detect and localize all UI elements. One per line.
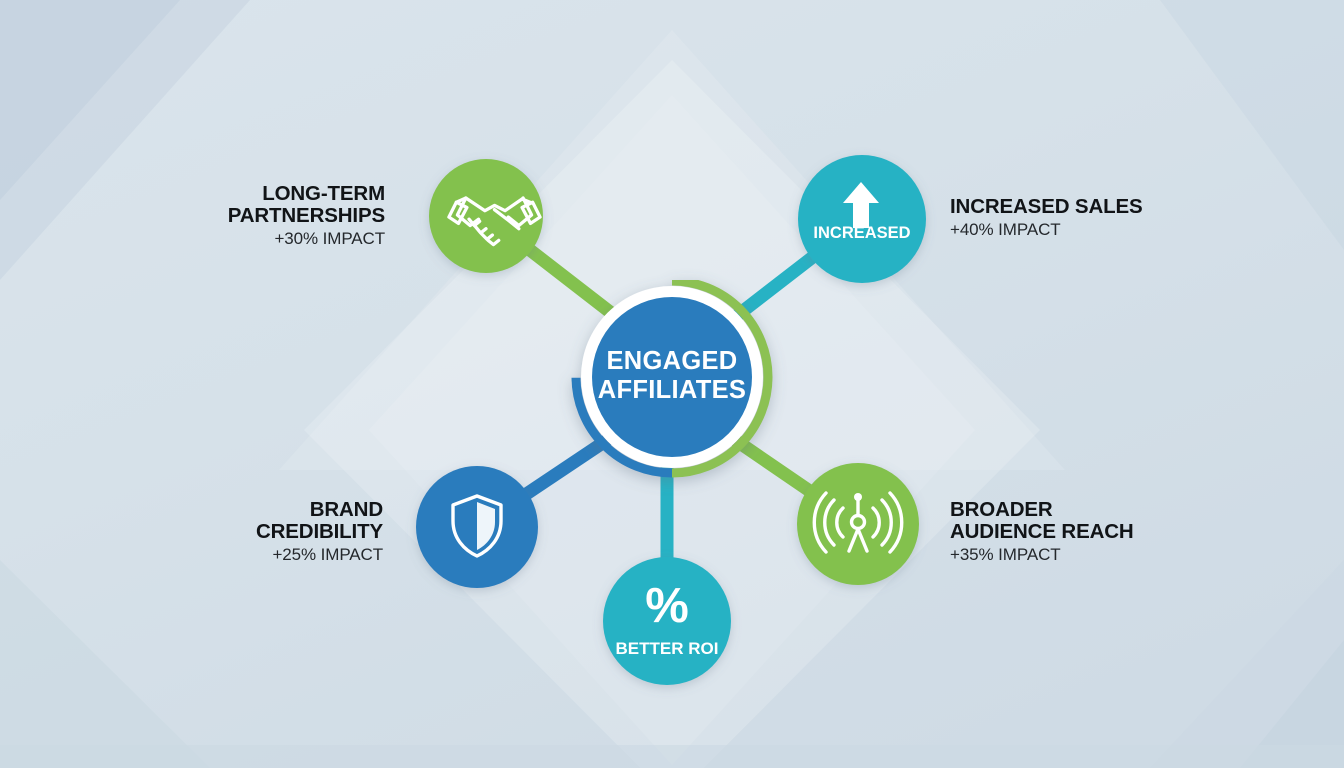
node-increased-sales[interactable]: INCREASED [798,155,926,283]
hub-label-line1: ENGAGED [606,347,737,375]
label-impact-broader-audience-reach: +35% IMPACT [950,546,1220,564]
node-better-roi[interactable]: % BETTER ROI [603,557,731,685]
label-title-increased-sales: INCREASED SALES [950,196,1200,218]
node-inner-caption-better-roi: BETTER ROI [616,639,719,658]
label-title-long-term-partnerships-line2: PARTNERSHIPS [180,205,385,227]
label-increased-sales: INCREASED SALES +40% IMPACT [950,196,1200,239]
label-impact-increased-sales: +40% IMPACT [950,221,1200,239]
node-brand-credibility[interactable] [416,466,538,588]
label-title-broader-audience-reach-line2: AUDIENCE REACH [950,521,1220,543]
infographic-canvas: ENGAGED AFFILIATES INCREASED [0,0,1344,768]
label-title-brand-credibility-line2: CREDIBILITY [178,521,383,543]
label-long-term-partnerships: LONG-TERM PARTNERSHIPS +30% IMPACT [180,183,385,248]
node-long-term-partnerships[interactable] [429,159,543,273]
label-impact-long-term-partnerships: +30% IMPACT [180,230,385,248]
label-title-broader-audience-reach-line1: BROADER [950,499,1220,521]
label-impact-brand-credibility: +25% IMPACT [178,546,383,564]
percent-icon: % [645,579,689,633]
node-inner-caption-increased-sales: INCREASED [813,224,910,242]
node-broader-audience-reach[interactable] [797,463,919,585]
label-title-brand-credibility-line1: BRAND [178,499,383,521]
label-broader-audience-reach: BROADER AUDIENCE REACH +35% IMPACT [950,499,1220,564]
label-title-long-term-partnerships-line1: LONG-TERM [180,183,385,205]
label-brand-credibility: BRAND CREDIBILITY +25% IMPACT [178,499,383,564]
hub-and-spoke-graph: ENGAGED AFFILIATES INCREASED [0,0,1344,768]
hub-label-line2: AFFILIATES [598,376,746,404]
